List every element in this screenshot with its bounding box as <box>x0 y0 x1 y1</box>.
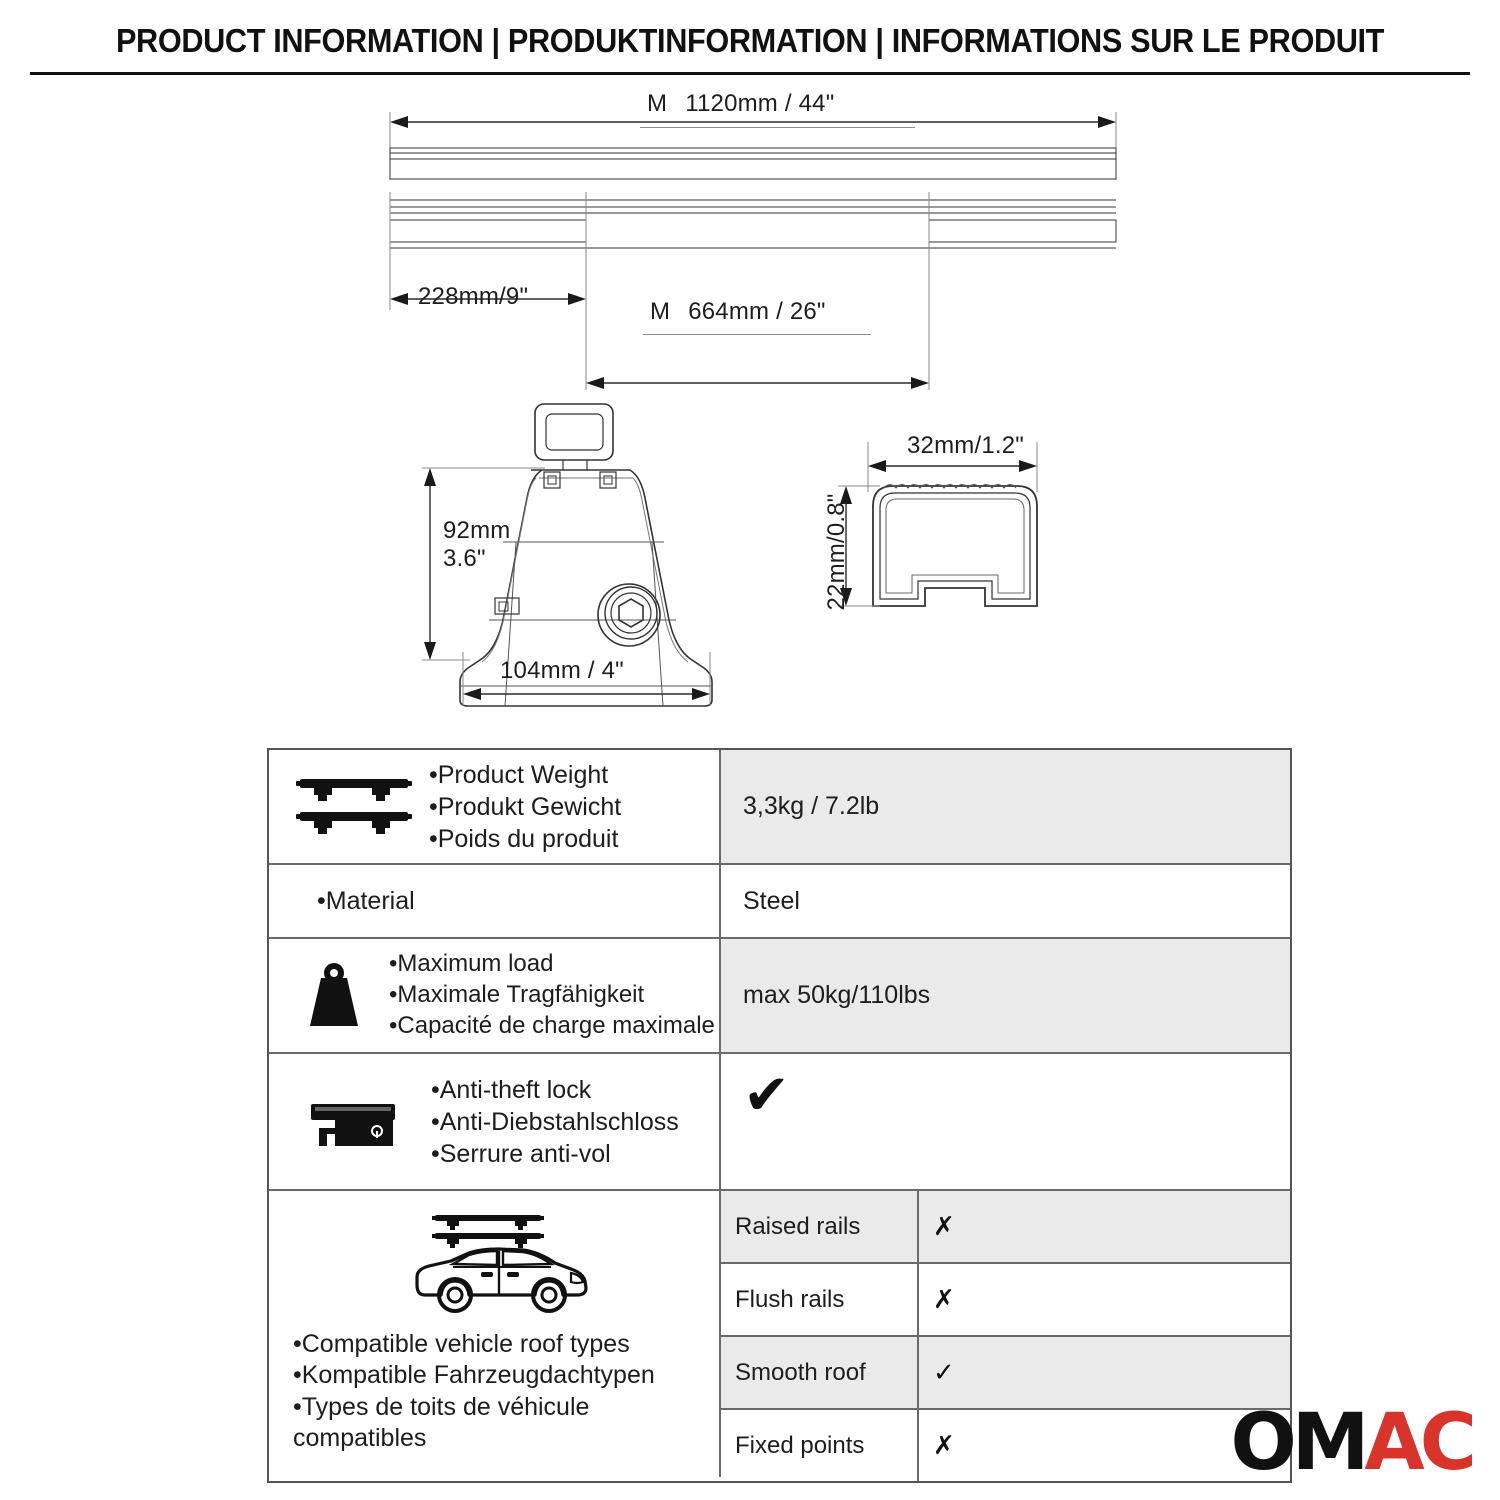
roof-type-name: Flush rails <box>721 1264 919 1335</box>
roof-type-row-raised-rails: Raised rails ✗ <box>721 1191 1290 1264</box>
checkmark-icon: ✔ <box>743 1068 790 1124</box>
roof-type-name: Smooth roof <box>721 1337 919 1408</box>
table-row-compatible-roof-types: •Compatible vehicle roof types •Kompatib… <box>269 1191 1290 1481</box>
roof-type-row-smooth-roof: Smooth roof ✓ <box>721 1337 1290 1410</box>
roof-type-row-fixed-points: Fixed points ✗ <box>721 1410 1290 1481</box>
crossbars-icon <box>279 771 429 843</box>
omac-logo: OM AC <box>1230 1404 1472 1482</box>
row-bullets-maximum-load: •Maximum load •Maximale Tragfähigkeit •C… <box>389 949 715 1041</box>
bullet-en: •Material <box>317 885 415 917</box>
bullet-de: •Maximale Tragfähigkeit <box>389 980 715 1011</box>
cross-icon: ✗ <box>933 1285 955 1315</box>
dimension-profile-width: 32mm/1.2" <box>907 432 1024 460</box>
row-label-compatible-roof-types: •Compatible vehicle roof types •Kompatib… <box>269 1191 721 1477</box>
bullet-fr: •Capacité de charge maximale <box>389 1011 715 1042</box>
drawing-svg <box>0 80 1500 730</box>
dimension-span-value: 664mm / 26" <box>688 298 825 325</box>
table-row-product-weight: •Product Weight •Produkt Gewicht •Poids … <box>269 750 1290 865</box>
bullet-fr-cont: compatibles <box>293 1423 655 1454</box>
row-label-material: •Material <box>269 865 721 937</box>
dimension-end-offset: 228mm/9" <box>418 283 528 311</box>
bullet-en: •Anti-theft lock <box>431 1074 679 1106</box>
roof-type-row-flush-rails: Flush rails ✗ <box>721 1264 1290 1337</box>
check-icon: ✓ <box>933 1358 955 1388</box>
specification-table: •Product Weight •Produkt Gewicht •Poids … <box>267 748 1292 1483</box>
row-bullets-compatible-roof-types: •Compatible vehicle roof types •Kompatib… <box>293 1329 655 1454</box>
row-value-product-weight: 3,3kg / 7.2lb <box>721 750 1290 863</box>
table-row-maximum-load: •Maximum load •Maximale Tragfähigkeit •C… <box>269 939 1290 1054</box>
row-bullets-anti-theft-lock: •Anti-theft lock •Anti-Diebstahlschloss … <box>431 1074 679 1170</box>
cross-icon: ✗ <box>933 1431 955 1461</box>
lock-icon <box>279 1086 431 1158</box>
dimension-foot-height-mm: 92mm <box>443 517 510 545</box>
dimension-span: M664mm / 26" <box>650 298 826 326</box>
lock-icon-svg <box>307 1100 403 1158</box>
bullet-fr: •Poids du produit <box>429 823 621 855</box>
cross-icon: ✗ <box>933 1212 955 1242</box>
bullet-en: •Product Weight <box>429 759 621 791</box>
page-title: PRODUCT INFORMATION | PRODUKTINFORMATION… <box>53 22 1448 60</box>
row-label-maximum-load: •Maximum load •Maximale Tragfähigkeit •C… <box>269 939 721 1052</box>
roof-type-name: Fixed points <box>721 1410 919 1481</box>
bullet-de: •Kompatible Fahrzeugdachtypen <box>293 1360 655 1391</box>
dimension-foot-height-in: 3.6" <box>443 545 510 573</box>
row-bullets-product-weight: •Product Weight •Produkt Gewicht •Poids … <box>429 759 621 855</box>
logo-text-red: AC <box>1364 1404 1472 1482</box>
table-row-anti-theft-lock: •Anti-theft lock •Anti-Diebstahlschloss … <box>269 1054 1290 1191</box>
row-value-anti-theft-lock: ✔ <box>721 1054 1290 1189</box>
roof-type-options: Raised rails ✗ Flush rails ✗ Smooth roof… <box>721 1191 1290 1481</box>
weight-icon-svg <box>296 958 372 1034</box>
bullet-en: •Maximum load <box>389 949 715 980</box>
dimension-foot-height: 92mm 3.6" <box>443 517 510 574</box>
car-with-roof-rack-icon-svg <box>407 1209 597 1319</box>
roof-type-mark: ✗ <box>919 1191 1290 1262</box>
row-bullets-material: •Material <box>279 885 415 917</box>
bullet-de: •Anti-Diebstahlschloss <box>431 1106 679 1138</box>
row-label-anti-theft-lock: •Anti-theft lock •Anti-Diebstahlschloss … <box>269 1054 721 1189</box>
dimension-span-underline <box>643 334 871 335</box>
bullet-fr: •Types de toits de véhicule <box>293 1392 655 1423</box>
table-row-material: •Material Steel <box>269 865 1290 939</box>
car-with-roof-rack-icon <box>293 1209 711 1319</box>
dimension-profile-height: 22mm/0.8" <box>823 472 851 632</box>
logo-text-dark: OM <box>1230 1404 1364 1482</box>
technical-drawing: M1120mm / 44" <box>0 80 1500 730</box>
bullet-fr: •Serrure anti-vol <box>431 1138 679 1170</box>
roof-type-name: Raised rails <box>721 1191 919 1262</box>
row-value-material: Steel <box>721 865 1290 937</box>
weight-icon <box>279 958 389 1034</box>
dimension-span-prefix: M <box>650 298 670 325</box>
roof-type-mark: ✗ <box>919 1264 1290 1335</box>
bullet-en: •Compatible vehicle roof types <box>293 1329 655 1360</box>
bullet-de: •Produkt Gewicht <box>429 791 621 823</box>
row-label-product-weight: •Product Weight •Produkt Gewicht •Poids … <box>269 750 721 863</box>
dimension-foot-width: 104mm / 4" <box>500 657 624 685</box>
header-divider <box>30 72 1470 75</box>
crossbars-icon-svg <box>294 771 414 843</box>
row-value-maximum-load: max 50kg/110lbs <box>721 939 1290 1052</box>
